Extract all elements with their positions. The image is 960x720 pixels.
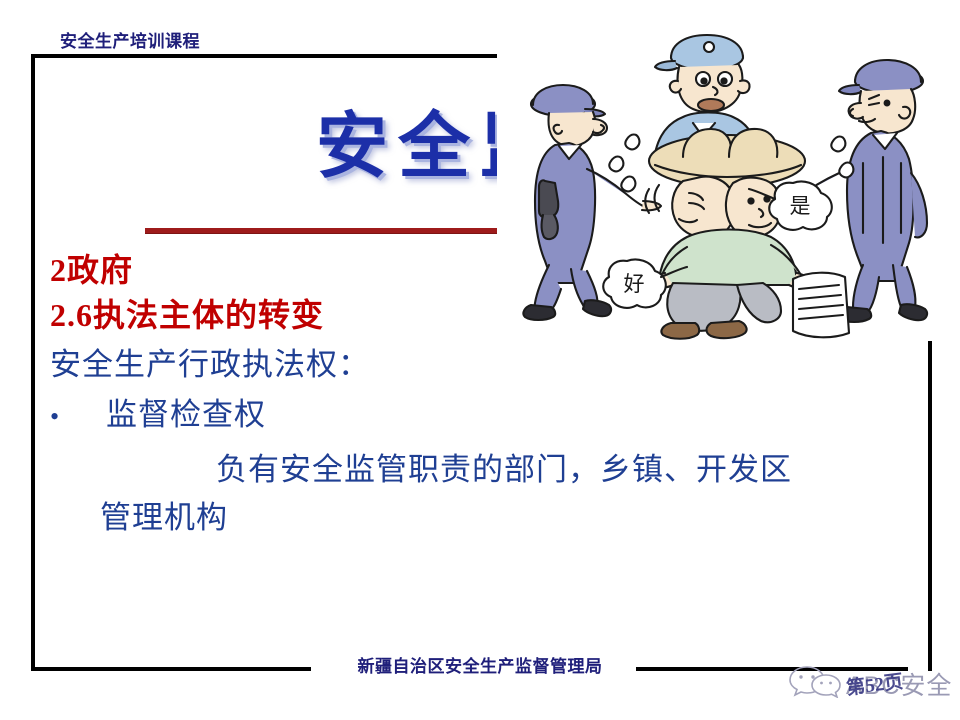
- course-header-label: 安全生产培训课程: [60, 27, 200, 52]
- document-paper: [793, 273, 849, 338]
- frame-border-right: [928, 340, 932, 671]
- cartoon-scene-svg: 好 是: [497, 33, 959, 341]
- body-paragraph: 负有安全监管职责的部门，乡镇、开发区 管理机构: [48, 446, 928, 542]
- slide-canvas: 安全生产培训课程 安全监管 2政府 2.6执法主体的转变 安全生产行政执法权： …: [0, 0, 960, 720]
- wechat-logo-icon: [788, 664, 842, 698]
- list-item-label: 监督检查权: [106, 392, 266, 438]
- frame-border-top: [31, 54, 501, 58]
- body-paragraph-line-2: 管理机构: [48, 494, 928, 542]
- subject-line: 安全生产行政执法权：: [48, 342, 928, 388]
- body-paragraph-line-1: 负有安全监管职责的部门，乡镇、开发区: [48, 446, 928, 494]
- list-item: • 监督检查权: [48, 392, 928, 440]
- speech-bubble-right-text: 是: [790, 194, 811, 218]
- speech-bubble-left-text: 好: [624, 272, 645, 296]
- bullet-dot-icon: •: [48, 394, 106, 440]
- cartoon-illustration: 好 是: [497, 33, 959, 341]
